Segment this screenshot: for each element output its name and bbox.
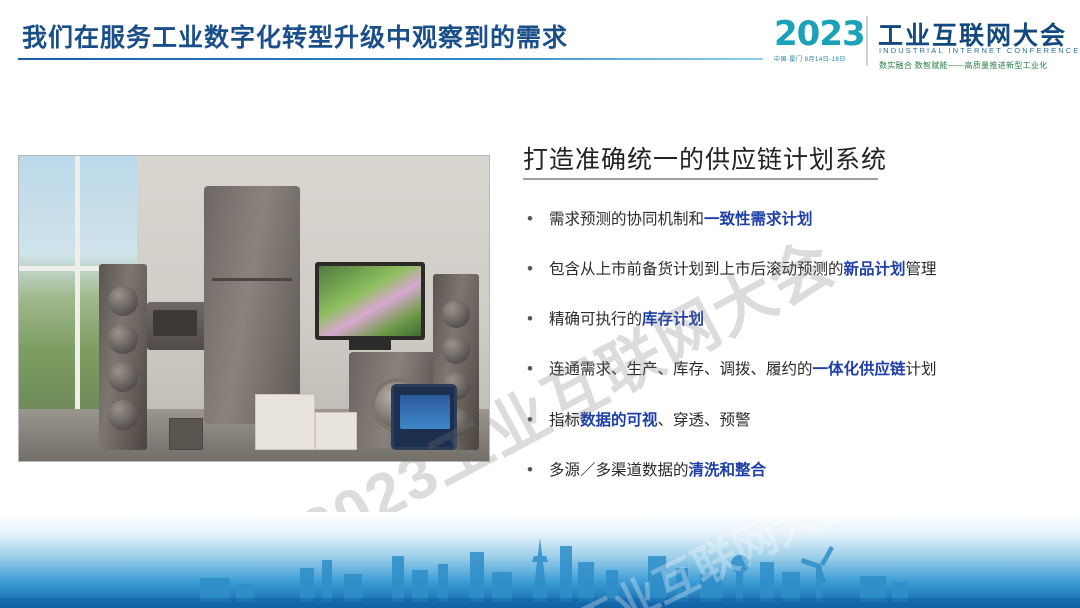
speaker-cone: [108, 362, 138, 392]
photo-small-appliance: [169, 418, 203, 450]
list-item: 连通需求、生产、库存、调拨、履约的一体化供应链计划: [523, 360, 1043, 380]
photo-television: [315, 262, 425, 340]
speaker-cone: [442, 300, 470, 328]
section-title: 打造准确统一的供应链计划系统: [523, 140, 887, 176]
window-frame-vertical: [75, 156, 80, 414]
list-item: 多源／多渠道数据的清洗和整合: [523, 461, 1043, 481]
photo-tablet: [391, 384, 457, 450]
tv-stand: [349, 340, 391, 350]
conference-logo: 2023 中国·厦门 8月14日-18日 工业互联网大会 INDUSTRIAL …: [774, 10, 1062, 82]
section-title-underline: [523, 178, 878, 180]
photo-speaker-left: [99, 264, 147, 450]
bullet-text-highlight: 库存计划: [642, 311, 704, 328]
speaker-cone: [442, 336, 470, 364]
list-item: 精确可执行的库存计划: [523, 310, 1043, 330]
tv-screen: [319, 266, 421, 336]
speaker-cone: [108, 286, 138, 316]
photo-box: [315, 412, 357, 450]
bullet-text-suffix: 管理: [906, 261, 937, 278]
bullet-text-prefix: 包含从上市前备货计划到上市后滚动预测的: [549, 261, 844, 278]
bullet-text-highlight: 数据的可视: [580, 412, 658, 429]
slide-header: 我们在服务工业数字化转型升级中观察到的需求 2023 中国·厦门 8月14日-1…: [0, 0, 1080, 92]
slide-footer: 工业互联网大会: [0, 512, 1080, 608]
speaker-cone: [108, 324, 138, 354]
logo-year-text: 2023: [774, 14, 865, 54]
bullet-text-prefix: 需求预测的协同机制和: [549, 211, 704, 228]
photo-refrigerator: [204, 186, 300, 424]
bullet-text-suffix: 计划: [906, 361, 937, 378]
bullet-list: 需求预测的协同机制和一致性需求计划 包含从上市前备货计划到上市后滚动预测的新品计…: [523, 210, 1043, 561]
bullet-text-highlight: 一致性需求计划: [704, 211, 813, 228]
speaker-cone: [108, 400, 138, 430]
city-skyline-graphic: [0, 512, 1080, 608]
bullet-text-suffix: 、穿透、预警: [658, 412, 751, 429]
page-title: 我们在服务工业数字化转型升级中观察到的需求: [22, 18, 568, 54]
bullet-text-highlight: 新品计划: [844, 261, 906, 278]
logo-divider: [866, 16, 868, 66]
bullet-text-highlight: 一体化供应链: [813, 361, 906, 378]
list-item: 需求预测的协同机制和一致性需求计划: [523, 210, 1043, 230]
header-divider: [18, 58, 763, 60]
slide-content: 打造准确统一的供应链计划系统 需求预测的协同机制和一致性需求计划 包含从上市前备…: [0, 92, 1080, 512]
list-item: 包含从上市前备货计划到上市后滚动预测的新品计划管理: [523, 260, 1043, 280]
logo-year-subtext: 中国·厦门 8月14日-18日: [774, 54, 846, 63]
logo-english-text: INDUSTRIAL INTERNET CONFERENCE: [879, 46, 1080, 55]
bullet-text-prefix: 多源／多渠道数据的: [549, 462, 689, 479]
product-photo: [18, 155, 490, 462]
list-item: 指标数据的可视、穿透、预警: [523, 411, 1043, 431]
logo-slogan-text: 数实融合 数智赋能——高质量推进新型工业化: [879, 60, 1048, 71]
photo-box: [255, 394, 315, 450]
bullet-text-prefix: 指标: [549, 412, 580, 429]
bullet-text-prefix: 连通需求、生产、库存、调拨、履约的: [549, 361, 813, 378]
bullet-text-prefix: 精确可执行的: [549, 311, 642, 328]
bullet-text-highlight: 清洗和整合: [689, 462, 767, 479]
